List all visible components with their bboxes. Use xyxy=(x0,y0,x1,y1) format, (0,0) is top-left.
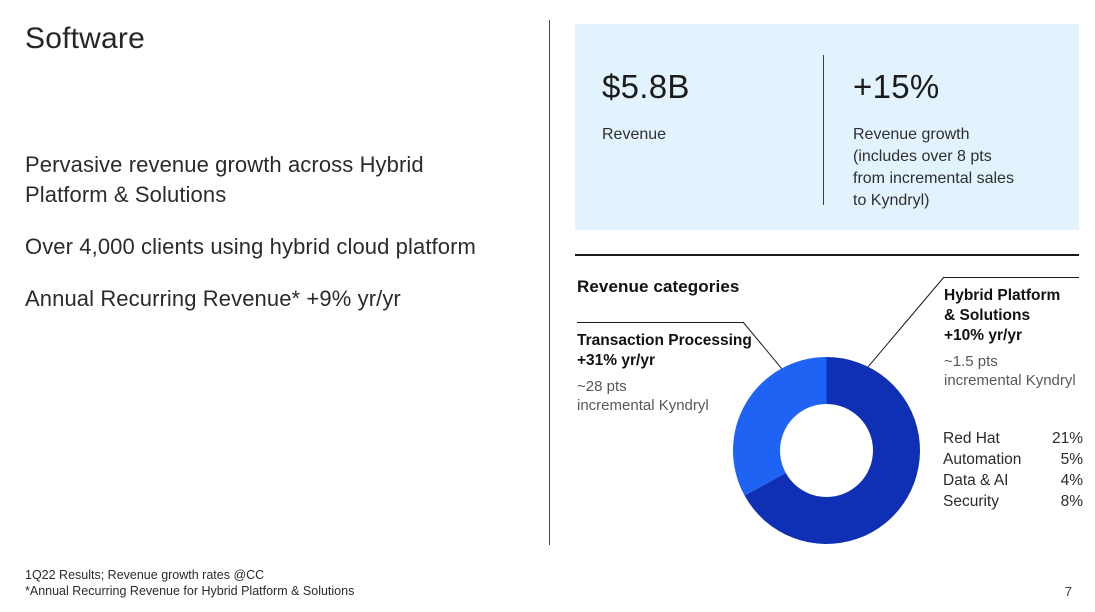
callout-rule xyxy=(944,277,1079,278)
bullet-item: Annual Recurring Revenue* +9% yr/yr xyxy=(25,284,495,314)
bullet-list: Pervasive revenue growth across Hybrid P… xyxy=(25,150,495,314)
footnote-line-1: 1Q22 Results; Revenue growth rates @CC xyxy=(25,567,354,583)
sub-metric-value: 4% xyxy=(1061,470,1083,491)
stat-growth-note-line3: to Kyndryl) xyxy=(853,190,1063,212)
footnotes: 1Q22 Results; Revenue growth rates @CC *… xyxy=(25,567,354,599)
stat-growth-label: Revenue growth xyxy=(853,124,1063,146)
key-metrics-box: $5.8B Revenue +15% Revenue growth (inclu… xyxy=(575,24,1079,230)
sub-metric-value: 5% xyxy=(1061,449,1083,470)
callout-right-note-line1: ~1.5 pts xyxy=(944,352,1094,371)
callout-right-title-line1: Hybrid Platform xyxy=(944,286,1094,306)
callout-hybrid-platform-solutions: Hybrid Platform & Solutions +10% yr/yr ~… xyxy=(944,277,1094,390)
bullet-item: Pervasive revenue growth across Hybrid P… xyxy=(25,150,495,210)
sub-metric-row: Data & AI 4% xyxy=(943,470,1083,491)
slide-root: Software Pervasive revenue growth across… xyxy=(0,0,1095,612)
stat-revenue-value: $5.8B xyxy=(602,68,817,106)
callout-rule xyxy=(577,322,743,323)
stat-separator xyxy=(823,55,824,205)
sub-metric-value: 8% xyxy=(1061,491,1083,512)
sub-metric-row: Security 8% xyxy=(943,491,1083,512)
sub-metrics-list: Red Hat 21% Automation 5% Data & AI 4% S… xyxy=(943,428,1083,512)
stat-revenue: $5.8B Revenue xyxy=(602,68,817,146)
callout-right-title-line2: & Solutions xyxy=(944,306,1094,326)
callout-right-title-line3: +10% yr/yr xyxy=(944,326,1094,346)
sub-metric-value: 21% xyxy=(1052,428,1083,449)
revenue-categories-heading: Revenue categories xyxy=(577,277,739,297)
stat-growth-note-line1: (includes over 8 pts xyxy=(853,146,1063,168)
vertical-divider xyxy=(549,20,550,545)
bullet-item: Over 4,000 clients using hybrid cloud pl… xyxy=(25,232,495,262)
donut-hole xyxy=(780,404,873,497)
sub-metric-name: Automation xyxy=(943,449,1021,470)
section-divider xyxy=(575,254,1079,256)
sub-metric-name: Red Hat xyxy=(943,428,1000,449)
callout-right-note-line2: incremental Kyndryl xyxy=(944,371,1094,390)
stat-growth-note-line2: from incremental sales xyxy=(853,168,1063,190)
page-title: Software xyxy=(25,22,145,56)
stat-revenue-label: Revenue xyxy=(602,124,817,146)
sub-metric-row: Red Hat 21% xyxy=(943,428,1083,449)
sub-metric-row: Automation 5% xyxy=(943,449,1083,470)
sub-metric-name: Data & AI xyxy=(943,470,1008,491)
page-number: 7 xyxy=(1065,584,1072,599)
stat-revenue-growth: +15% Revenue growth (includes over 8 pts… xyxy=(853,68,1063,212)
footnote-line-2: *Annual Recurring Revenue for Hybrid Pla… xyxy=(25,583,354,599)
revenue-donut-chart xyxy=(733,357,920,544)
sub-metric-name: Security xyxy=(943,491,999,512)
stat-growth-value: +15% xyxy=(853,68,1063,106)
callout-left-title-line1: Transaction Processing xyxy=(577,331,777,351)
